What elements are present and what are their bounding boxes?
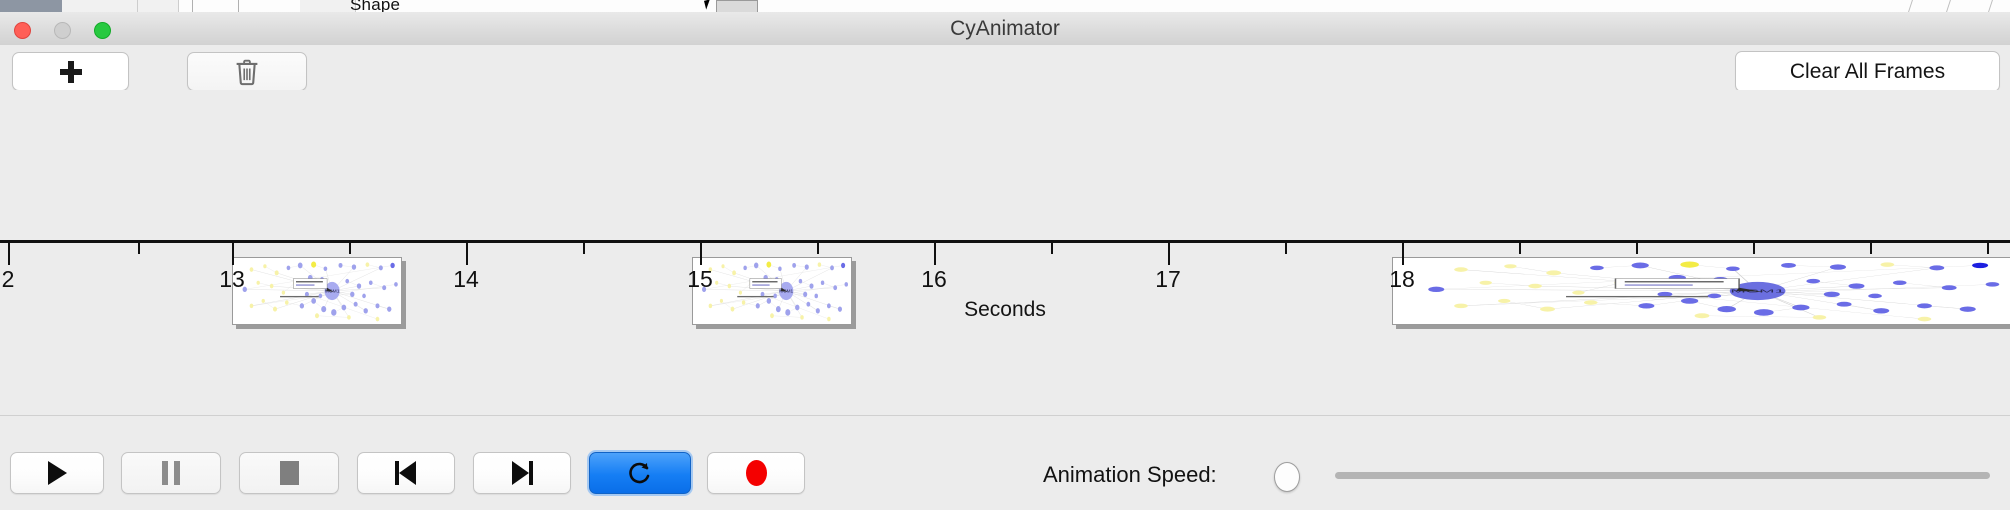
axis-minor-tick <box>1870 243 1872 254</box>
loop-icon <box>627 460 653 486</box>
axis-minor-tick <box>349 243 351 254</box>
plus-icon <box>59 60 83 84</box>
background-cell <box>62 0 138 12</box>
axis-tick-label: 15 <box>687 266 713 293</box>
axis-major-tick <box>1168 243 1170 265</box>
axis-tick-label: 13 <box>219 266 245 293</box>
trash-icon <box>233 57 261 87</box>
animation-speed-label: Animation Speed: <box>1043 439 1217 510</box>
axis-minor-tick <box>1987 243 1989 254</box>
skip-to-end-button[interactable] <box>473 452 571 494</box>
axis-major-tick <box>934 243 936 265</box>
playback-controls: Animation Speed: <box>0 439 2010 510</box>
cyanimator-window: Shape CyAnimator Clear All Frames <box>0 0 2010 510</box>
record-icon <box>746 460 767 486</box>
axis-minor-tick <box>1051 243 1053 254</box>
axis-major-tick <box>8 243 10 265</box>
axis-minor-tick <box>1519 243 1521 254</box>
axis-major-tick <box>232 243 234 265</box>
toolbar: Clear All Frames <box>0 45 2010 91</box>
background-tick <box>1908 0 1913 12</box>
axis-tick-label: 14 <box>453 266 479 293</box>
background-tick <box>192 0 193 12</box>
background-tab <box>0 0 62 12</box>
clear-all-frames-button[interactable]: Clear All Frames <box>1735 51 2000 92</box>
axis-tick-label: 16 <box>921 266 947 293</box>
frames-container[interactable]: MCM1MCM1MCM1 <box>0 90 2010 310</box>
timeline-axis <box>0 240 2010 243</box>
timeline-panel[interactable]: MCM1MCM1MCM1 2131415161718 Seconds <box>0 90 2010 416</box>
axis-minor-tick <box>817 243 819 254</box>
animation-speed-slider[interactable] <box>1335 472 1990 479</box>
axis-major-tick <box>1402 243 1404 265</box>
axis-minor-tick <box>138 243 140 254</box>
clear-all-frames-label: Clear All Frames <box>1790 60 1945 84</box>
background-tick <box>238 0 239 12</box>
background-tick <box>1946 0 1951 12</box>
titlebar: CyAnimator <box>0 12 2010 46</box>
axis-minor-tick <box>1636 243 1638 254</box>
axis-minor-tick <box>1753 243 1755 254</box>
background-cell <box>138 0 179 12</box>
play-button[interactable] <box>10 452 104 494</box>
axis-minor-tick <box>1285 243 1287 254</box>
delete-frame-button[interactable] <box>187 52 307 91</box>
background-tick <box>1988 0 1993 12</box>
stop-button <box>239 452 339 494</box>
axis-tick-label: 2 <box>2 266 15 293</box>
stop-icon <box>280 461 299 485</box>
record-button[interactable] <box>707 452 805 494</box>
skip-back-icon <box>393 461 419 485</box>
axis-major-tick <box>700 243 702 265</box>
animation-speed-slider-thumb[interactable] <box>1274 462 1300 492</box>
cursor-icon <box>704 0 712 10</box>
pause-button <box>121 452 221 494</box>
add-frame-button[interactable] <box>12 52 129 91</box>
axis-title: Seconds <box>0 298 2010 322</box>
axis-tick-label: 17 <box>1155 266 1181 293</box>
pause-icon <box>162 461 180 485</box>
axis-tick-label: 18 <box>1389 266 1415 293</box>
window-title: CyAnimator <box>0 12 2010 45</box>
skip-to-start-button[interactable] <box>357 452 455 494</box>
axis-major-tick <box>466 243 468 265</box>
play-icon <box>48 461 67 485</box>
axis-minor-tick <box>583 243 585 254</box>
skip-forward-icon <box>509 461 535 485</box>
loop-button[interactable] <box>589 452 691 494</box>
background-cell <box>300 0 356 12</box>
